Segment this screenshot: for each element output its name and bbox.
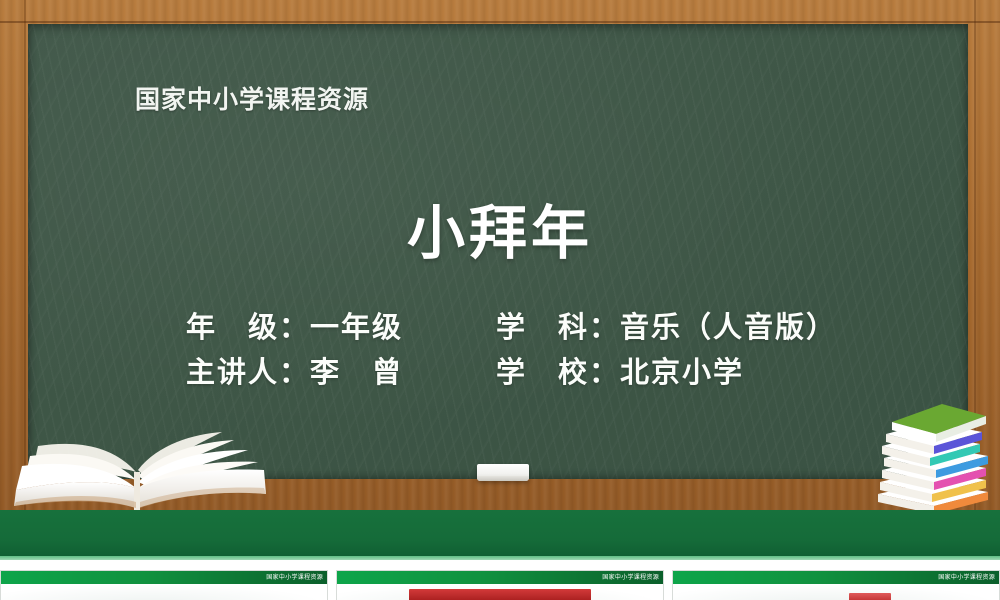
thumbnail-brand-label-3: 国家中小学课程资源 [938,572,995,581]
slide-thumbnail-3[interactable]: 国家中小学课程资源 [672,570,1000,600]
slide-stage: 国家中小学课程资源 小拜年 年 级：一年级 学 科：音乐（人音版） 主讲人：李 … [0,0,1000,600]
open-book-icon [8,424,276,514]
desk-band [0,510,1000,560]
slide-thumbnail-1[interactable]: 国家中小学课程资源 [0,570,328,600]
slide-thumbnail-2[interactable]: 国家中小学课程资源 [336,570,664,600]
book-stack-icon [870,398,994,518]
thumbnail-header-bar-2: 国家中小学课程资源 [337,571,663,584]
info-line-grade-subject: 年 级：一年级 学 科：音乐（人音版） [186,306,906,351]
eraser-felt [477,476,529,481]
thumbnail-header-bar-1: 国家中小学课程资源 [1,571,327,584]
info-line-lecturer-school: 主讲人：李 曾 学 校：北京小学 [186,351,906,396]
thumbnail-brand-label-2: 国家中小学课程资源 [602,572,659,581]
thumbnail-body-1 [1,584,327,600]
thumbnail-body-2 [337,584,663,600]
thumbnail-red-banner [409,589,592,600]
lesson-info-block: 年 级：一年级 学 科：音乐（人音版） 主讲人：李 曾 学 校：北京小学 [186,306,906,396]
thumbnail-brand-label-1: 国家中小学课程资源 [266,572,323,581]
frame-top-seam [0,21,1000,23]
lesson-title: 小拜年 [0,186,1000,270]
thumbnail-header-bar-3: 国家中小学课程资源 [673,571,999,584]
chalkboard-eraser [477,464,529,481]
brand-title: 国家中小学课程资源 [135,80,369,116]
thumbnail-body-3 [673,584,999,600]
thumbnail-red-accent [849,593,891,600]
slide-thumbnail-strip: 国家中小学课程资源 国家中小学课程资源 国家中小学课程资源 [0,560,1000,600]
